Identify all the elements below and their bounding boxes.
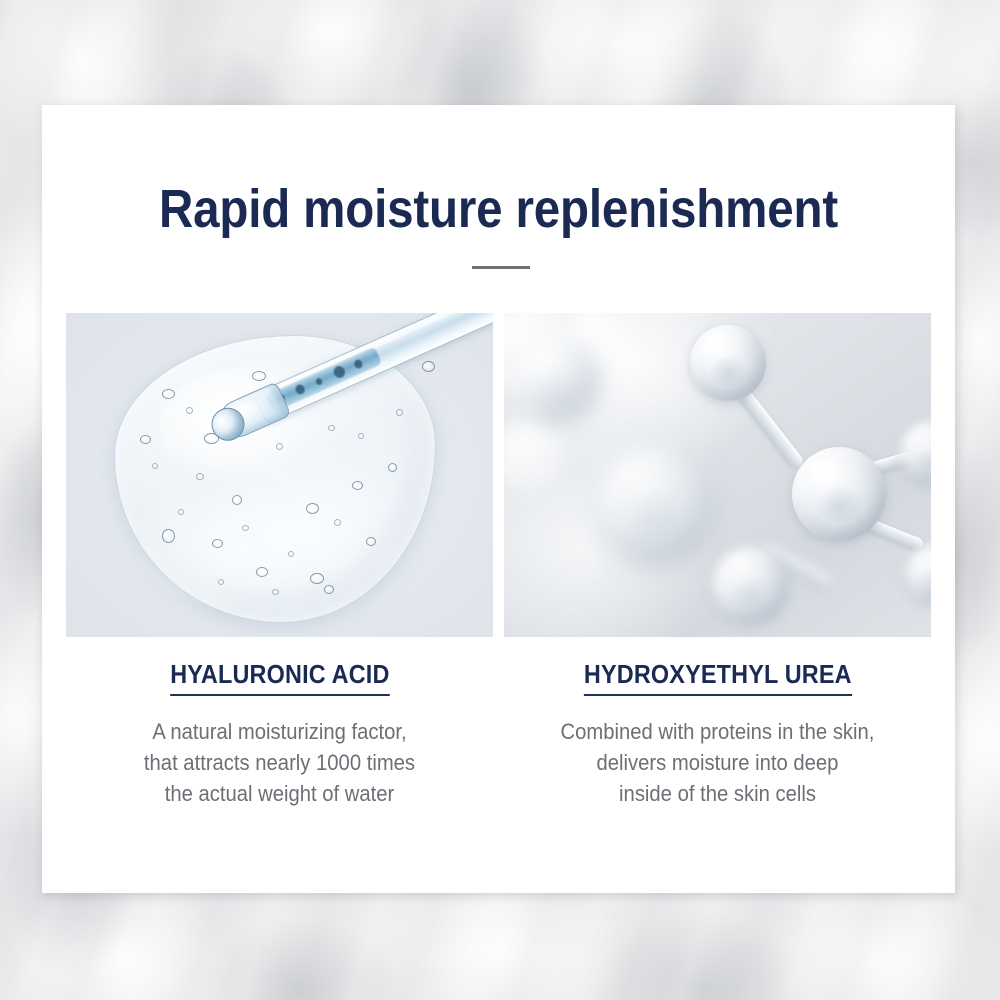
- ingredient-description: A natural moisturizing factor, that attr…: [83, 716, 476, 810]
- serum-dropper-photo: [66, 313, 493, 637]
- ingredient-column-hydroxyethyl-urea: HYDROXYETHYL UREA Combined with proteins…: [504, 313, 931, 810]
- molecule-bond: [736, 388, 805, 471]
- ingredient-caption: HYDROXYETHYL UREA Combined with proteins…: [504, 637, 931, 810]
- description-line: Combined with proteins in the skin,: [521, 716, 914, 747]
- page-title: Rapid moisture replenishment: [97, 178, 900, 240]
- ingredient-columns: HYALURONIC ACID A natural moisturizing f…: [66, 313, 931, 810]
- description-line: delivers moisture into deep: [521, 747, 914, 778]
- ingredient-name-hyaluronic-acid: HYALURONIC ACID: [170, 659, 389, 696]
- molecule-atom-right-upper: [900, 421, 931, 483]
- description-line: the actual weight of water: [83, 778, 476, 809]
- molecule-atom-center: [792, 447, 886, 541]
- description-line: that attracts nearly 1000 times: [83, 747, 476, 778]
- molecule-structure-photo: [504, 313, 931, 637]
- molecule-atom-bottom: [712, 547, 788, 623]
- background-molecule-atom: [596, 447, 712, 563]
- ingredient-name-hydroxyethyl-urea: HYDROXYETHYL UREA: [584, 659, 852, 696]
- description-line: inside of the skin cells: [521, 778, 914, 809]
- background-molecule-atom: [516, 337, 598, 419]
- ingredient-column-hyaluronic-acid: HYALURONIC ACID A natural moisturizing f…: [66, 313, 493, 810]
- ingredient-caption: HYALURONIC ACID A natural moisturizing f…: [66, 637, 493, 810]
- product-infographic: Rapid moisture replenishment: [0, 0, 1000, 1000]
- description-line: A natural moisturizing factor,: [83, 716, 476, 747]
- content-card: Rapid moisture replenishment: [42, 105, 955, 893]
- air-bubbles-group: [66, 313, 493, 637]
- molecule-atom-right-lower: [906, 545, 931, 603]
- ingredient-description: Combined with proteins in the skin, deli…: [521, 716, 914, 810]
- molecule-atom-top: [690, 325, 766, 401]
- title-divider: [472, 266, 530, 269]
- bokeh-sphere: [504, 417, 568, 495]
